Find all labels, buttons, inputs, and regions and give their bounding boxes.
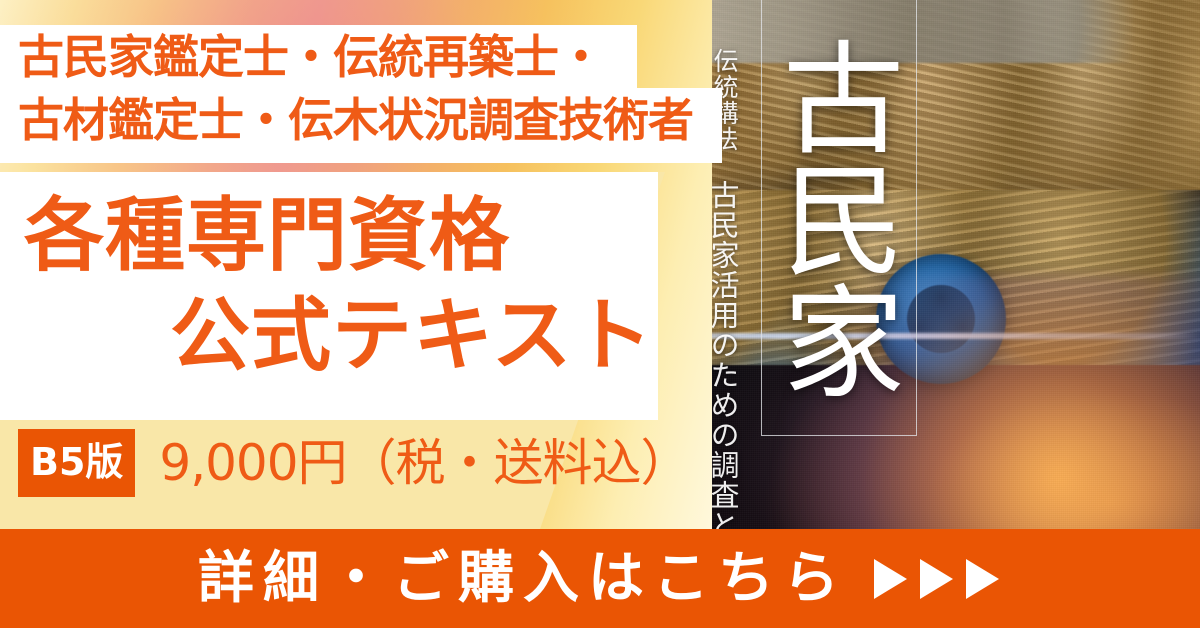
cta-bar[interactable]: 詳細・ご購入はこちら	[0, 529, 1200, 628]
promo-banner: 伝統構法 古民家活用のための調査と再生の 古民家 古民家鑑定士・伝統再築士・ 古…	[0, 0, 1200, 628]
triangle-right-icon	[916, 556, 956, 602]
title-block: 各種専門資格 公式テキスト	[0, 172, 658, 420]
title-line-2: 公式テキスト	[170, 296, 654, 376]
headline-line-2: 古材鑑定士・伝木状況調査技術者	[18, 97, 693, 143]
title-line-1: 各種専門資格	[24, 196, 510, 276]
format-badge: B5版	[18, 429, 135, 497]
triangle-right-icon	[962, 556, 1002, 602]
cta-arrow-group	[870, 556, 1002, 602]
cta-label: 詳細・ご購入はこちら	[198, 551, 848, 607]
price-row: B5版 9,000円（税・送料込）	[18, 428, 690, 498]
triangle-right-icon	[870, 556, 910, 602]
headline-line-1: 古民家鑑定士・伝統再築士・	[18, 34, 603, 80]
cover-title: 古民家	[775, 8, 903, 428]
price-text: 9,000円（税・送料込）	[159, 438, 689, 488]
